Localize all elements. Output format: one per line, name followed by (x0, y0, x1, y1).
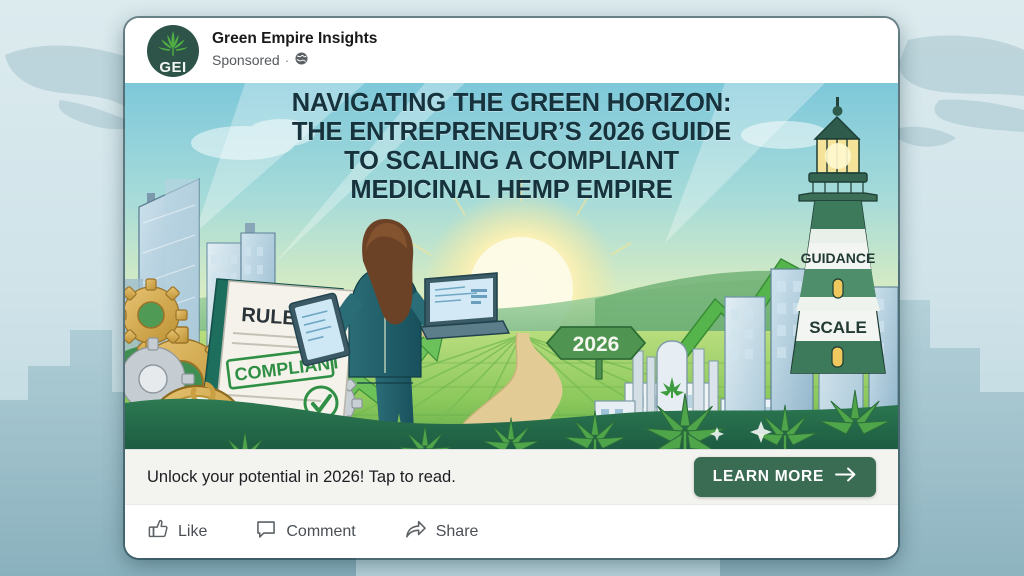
lighthouse-band-guidance: GUIDANCE (801, 250, 876, 266)
page-name[interactable]: Green Empire Insights (212, 30, 377, 49)
laptop (421, 273, 509, 339)
learn-more-button[interactable]: LEARN MORE (694, 457, 876, 497)
thumbs-up-icon (147, 518, 169, 545)
separator: · (285, 53, 289, 68)
social-action-bar: Like Comment Share (125, 504, 898, 558)
comment-bubble-icon (255, 518, 277, 545)
creative-headline: NAVIGATING THE GREEN HORIZON: THE ENTREP… (125, 89, 898, 205)
ad-header: GEI Green Empire Insights Sponsored · (125, 18, 898, 83)
avatar[interactable]: GEI (147, 25, 199, 77)
comment-label: Comment (286, 523, 355, 541)
share-arrow-icon (404, 518, 427, 545)
learn-more-label: LEARN MORE (713, 468, 824, 486)
headline-line-2: THE ENTREPRENEUR’S 2026 GUIDE (167, 118, 856, 147)
cta-strip: Unlock your potential in 2026! Tap to re… (125, 449, 898, 504)
sponsored-line: Sponsored · (212, 51, 377, 71)
sponsored-ad-card: GEI Green Empire Insights Sponsored · (125, 18, 898, 558)
header-text-block: Green Empire Insights Sponsored · (212, 30, 377, 71)
headline-line-4: MEDICINAL HEMP EMPIRE (167, 176, 856, 205)
lighthouse-band-scale: SCALE (809, 318, 867, 337)
globe-icon (294, 51, 309, 71)
ad-creative-image[interactable]: RULEBOOK COMPLIANT (125, 83, 898, 449)
share-label: Share (436, 523, 479, 541)
like-button[interactable]: Like (147, 518, 207, 545)
like-label: Like (178, 523, 207, 541)
cta-text: Unlock your potential in 2026! Tap to re… (147, 468, 456, 487)
arrow-right-icon (835, 467, 857, 487)
comment-button[interactable]: Comment (255, 518, 355, 545)
avatar-initials: GEI (147, 60, 199, 75)
headline-line-3: TO SCALING A COMPLIANT (167, 147, 856, 176)
share-button[interactable]: Share (404, 518, 479, 545)
signpost-label: 2026 (573, 333, 620, 356)
sponsored-label: Sponsored (212, 52, 280, 69)
headline-line-1: NAVIGATING THE GREEN HORIZON: (167, 89, 856, 118)
